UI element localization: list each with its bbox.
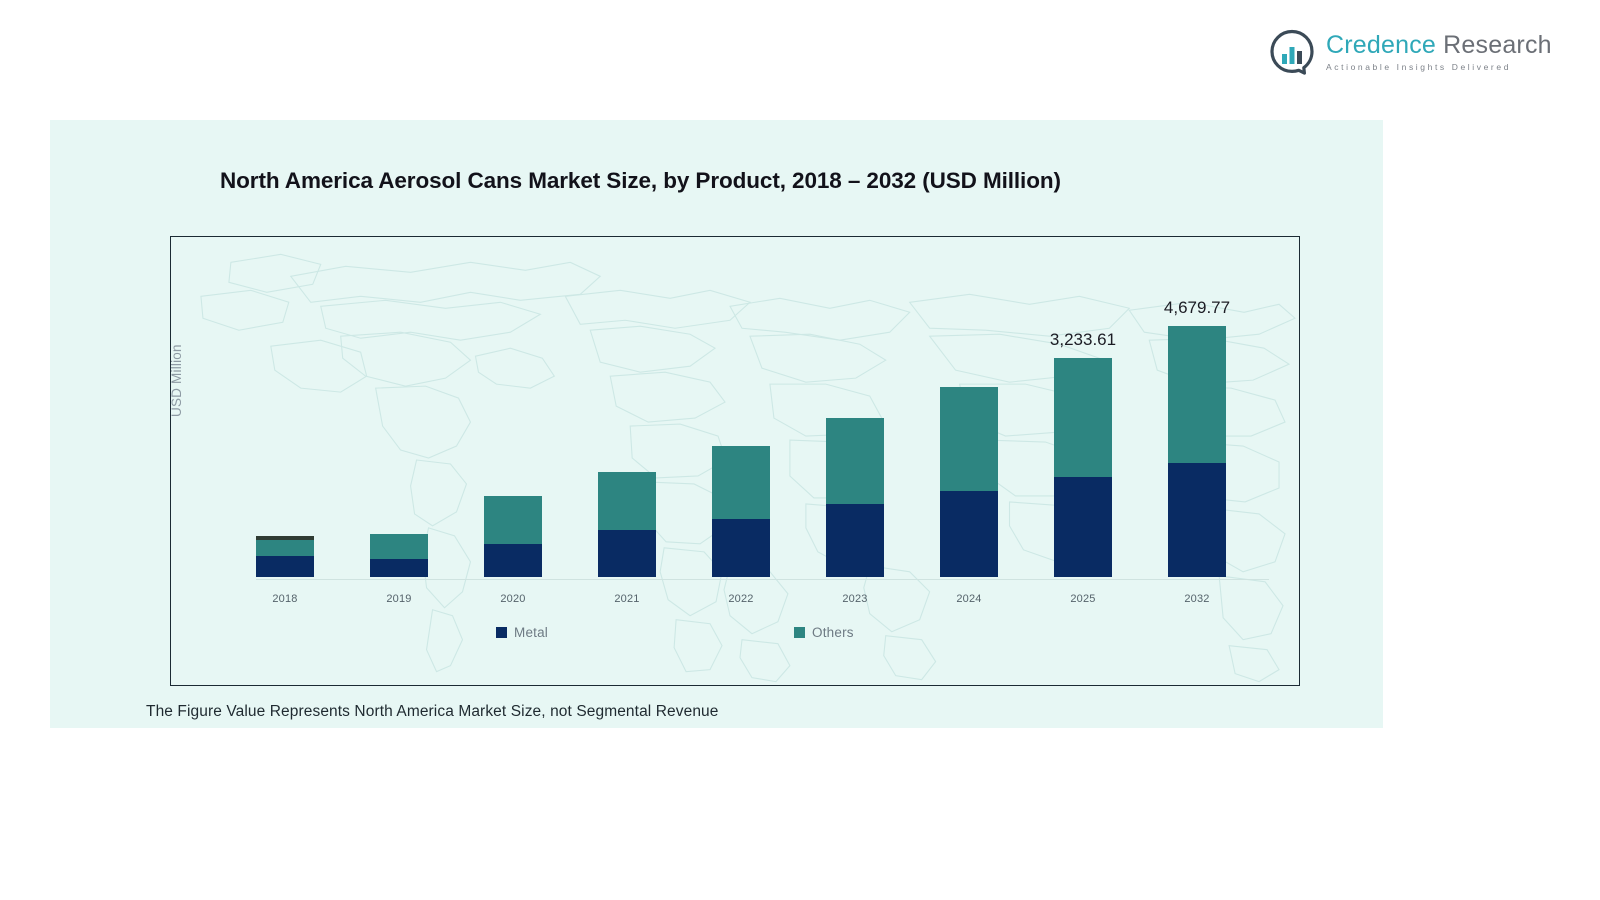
bar-segment-others-2025[interactable] — [1054, 358, 1112, 477]
x-axis-tick-2020: 2020 — [484, 593, 542, 605]
bar-segment-metal-2018[interactable] — [256, 556, 314, 577]
screenshot-root: Credence Research Actionable Insights De… — [0, 0, 1600, 900]
credence-bar-chart-circle-logo-icon — [1268, 28, 1316, 76]
bar-2024[interactable] — [940, 387, 998, 577]
plot-area: USD Million 2018201920202021202220232024… — [170, 236, 1300, 686]
bar-segment-others-2019[interactable] — [370, 534, 428, 559]
value-label-2032: 4,679.77 — [1132, 298, 1262, 318]
legend-label-metal: Metal — [514, 625, 548, 640]
legend-item-others[interactable]: Others — [794, 625, 854, 640]
bar-2025[interactable] — [1054, 358, 1112, 577]
bar-segment-others-2032[interactable] — [1168, 326, 1226, 463]
x-axis-tick-2032: 2032 — [1168, 593, 1226, 605]
bar-2023[interactable] — [826, 418, 884, 577]
legend-label-others: Others — [812, 625, 854, 640]
bar-2022[interactable] — [712, 446, 770, 577]
chart-footnote: The Figure Value Represents North Americ… — [146, 703, 718, 721]
bar-segment-metal-2024[interactable] — [940, 491, 998, 577]
x-axis-tick-2021: 2021 — [598, 593, 656, 605]
legend-swatch-metal — [496, 627, 507, 638]
bar-segment-metal-2022[interactable] — [712, 519, 770, 577]
value-label-2025: 3,233.61 — [1018, 330, 1148, 350]
bar-segment-others-2024[interactable] — [940, 387, 998, 491]
bar-2021[interactable] — [598, 472, 656, 577]
brand-name: Credence Research — [1326, 32, 1552, 58]
x-axis-tick-2018: 2018 — [256, 593, 314, 605]
bar-segment-metal-2021[interactable] — [598, 530, 656, 577]
x-axis-tick-2019: 2019 — [370, 593, 428, 605]
bar-segment-others-2020[interactable] — [484, 496, 542, 544]
bar-2019[interactable] — [370, 534, 428, 577]
bar-segment-metal-2032[interactable] — [1168, 463, 1226, 577]
bar-segment-metal-2020[interactable] — [484, 544, 542, 577]
chart-title: North America Aerosol Cans Market Size, … — [220, 168, 1061, 194]
bar-segment-others-2023[interactable] — [826, 418, 884, 504]
chart-legend: Metal Others — [171, 625, 1299, 645]
chart-panel: North America Aerosol Cans Market Size, … — [50, 120, 1383, 728]
x-axis-tick-2025: 2025 — [1054, 593, 1112, 605]
bar-2018[interactable] — [256, 536, 314, 577]
brand-logo-text: Credence Research Actionable Insights De… — [1326, 32, 1552, 71]
x-axis-tick-2023: 2023 — [826, 593, 884, 605]
x-axis-tick-2024: 2024 — [940, 593, 998, 605]
brand-tagline: Actionable Insights Delivered — [1326, 62, 1552, 72]
bar-segment-cap-2018 — [256, 536, 314, 540]
bar-segment-metal-2019[interactable] — [370, 559, 428, 577]
brand-name-part1: Credence — [1326, 31, 1436, 59]
x-axis-line — [256, 579, 1269, 580]
legend-swatch-others — [794, 627, 805, 638]
brand-name-part2: Research — [1443, 31, 1552, 59]
bar-segment-others-2022[interactable] — [712, 446, 770, 519]
bar-segment-others-2018[interactable] — [256, 540, 314, 556]
brand-logo[interactable]: Credence Research Actionable Insights De… — [1268, 28, 1552, 76]
bar-2032[interactable] — [1168, 326, 1226, 577]
x-axis-tick-2022: 2022 — [712, 593, 770, 605]
bar-segment-metal-2023[interactable] — [826, 504, 884, 577]
plot-inner: 2018201920202021202220232024202520323,23… — [171, 237, 1299, 685]
bar-2020[interactable] — [484, 496, 542, 577]
legend-item-metal[interactable]: Metal — [496, 625, 548, 640]
bar-segment-others-2021[interactable] — [598, 472, 656, 530]
bar-segment-metal-2025[interactable] — [1054, 477, 1112, 577]
